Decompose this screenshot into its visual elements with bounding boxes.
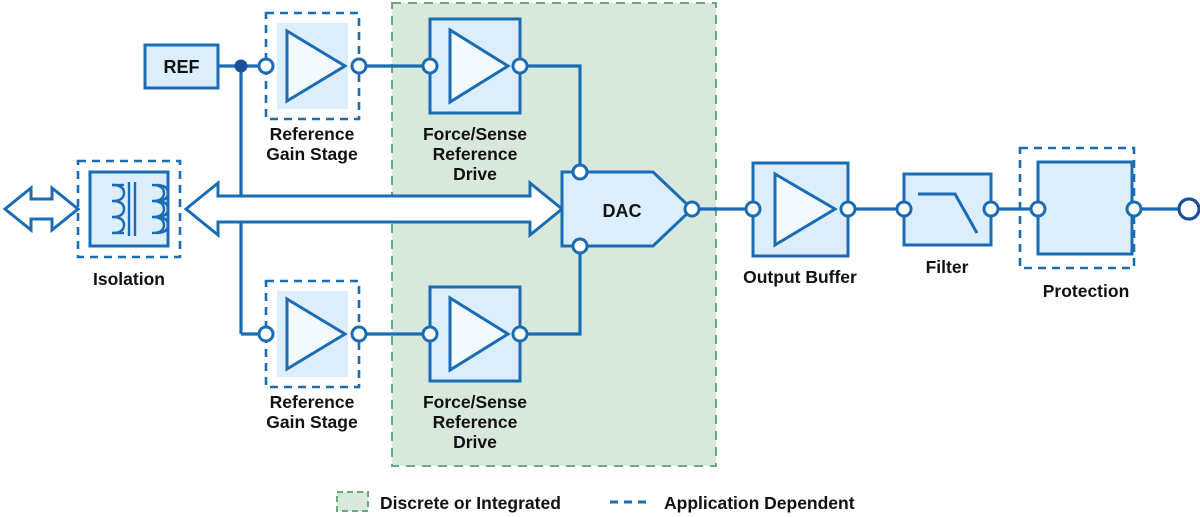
reference-junction-dot [235,60,248,73]
block-reference-gain-stage-top[interactable]: Reference Gain Stage [259,13,366,164]
reference-gain-stage-bottom-label-line1: Reference [270,392,355,412]
block-protection[interactable]: Protection [1020,148,1141,301]
force-sense-drive-bottom-output-terminal [513,327,527,341]
protection-body[interactable] [1038,162,1132,254]
block-force-sense-reference-drive-bottom[interactable]: Force/Sense Reference Drive [423,287,527,452]
force-sense-drive-top-input-terminal [423,59,437,73]
isolation-external-arrow-shape [5,188,78,230]
reference-gain-stage-bottom-input-terminal [259,327,273,341]
dac-label: DAC [603,201,642,221]
filter-label: Filter [926,257,969,277]
output-buffer-label: Output Buffer [743,267,857,287]
dac-top-reference-terminal [573,165,587,179]
force-sense-drive-bottom-label-line1: Force/Sense [423,392,527,412]
legend-swatch-green-dashed-box [337,492,368,511]
block-filter[interactable]: Filter [897,174,998,277]
diagram-canvas: REF Reference Gain Stage Force/Sense Ref… [0,0,1200,517]
reference-gain-stage-bottom-label-line2: Gain Stage [266,412,358,432]
legend-label-discrete-or-integrated: Discrete or Integrated [380,493,561,513]
force-sense-drive-top-output-terminal [513,59,527,73]
protection-label: Protection [1043,281,1130,301]
dac-bottom-reference-terminal [573,239,587,253]
signal-output-terminal [1179,199,1199,219]
protection-input-terminal [1031,202,1045,216]
block-force-sense-reference-drive-top[interactable]: Force/Sense Reference Drive [423,19,527,184]
force-sense-drive-top-label-line3: Drive [453,164,497,184]
protection-output-terminal [1127,202,1141,216]
force-sense-drive-bottom-input-terminal [423,327,437,341]
ref-block-text: REF [164,57,200,77]
reference-gain-stage-top-input-terminal [259,59,273,73]
reference-gain-stage-top-label-line1: Reference [270,124,355,144]
isolation-label: Isolation [93,269,165,289]
force-sense-drive-bottom-label-line2: Reference [433,412,518,432]
output-buffer-output-terminal [841,202,855,216]
legend-item-discrete-or-integrated: Discrete or Integrated [337,492,561,513]
force-sense-drive-top-label-line1: Force/Sense [423,124,527,144]
reference-gain-stage-top-label-line2: Gain Stage [266,144,358,164]
block-diagram: REF Reference Gain Stage Force/Sense Ref… [0,0,1200,517]
filter-output-terminal [984,202,998,216]
force-sense-drive-bottom-label-line3: Drive [453,432,497,452]
block-ref[interactable]: REF [145,45,218,88]
block-isolation[interactable]: Isolation [78,161,180,289]
block-reference-gain-stage-bottom[interactable]: Reference Gain Stage [259,281,366,432]
force-sense-drive-top-label-line2: Reference [433,144,518,164]
external-bidirectional-arrow [5,188,78,230]
dac-output-terminal [685,202,699,216]
reference-gain-stage-top-output-terminal [352,59,366,73]
filter-input-terminal [897,202,911,216]
output-buffer-input-terminal [746,202,760,216]
reference-gain-stage-bottom-output-terminal [352,327,366,341]
block-output-buffer[interactable]: Output Buffer [743,163,857,287]
legend-item-application-dependent: Application Dependent [610,493,855,513]
legend: Discrete or Integrated Application Depen… [337,492,855,513]
legend-label-application-dependent: Application Dependent [664,493,855,513]
filter-body[interactable] [904,174,991,245]
